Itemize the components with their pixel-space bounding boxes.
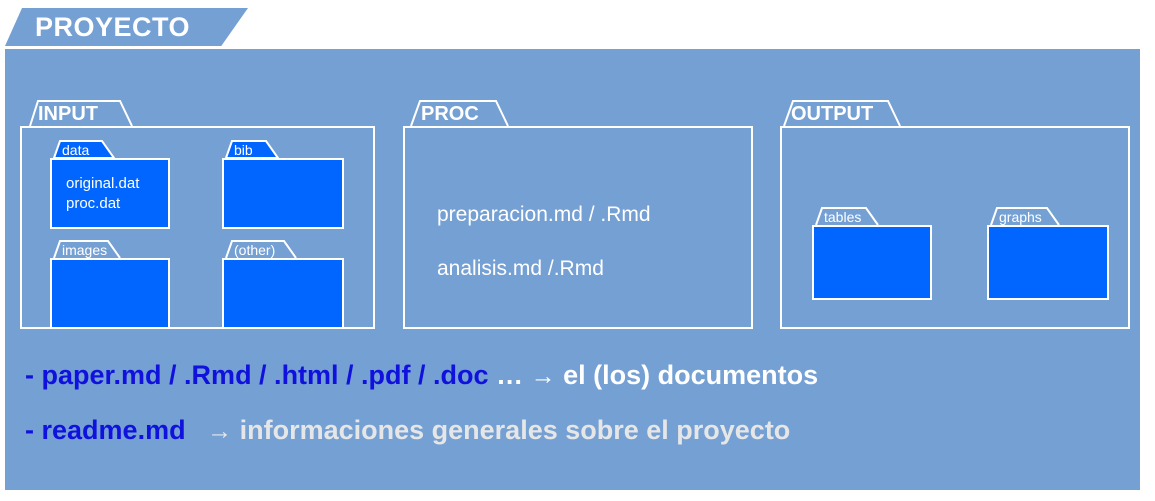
group-proc-tab: PROC [403,100,515,127]
folder-graphs-tab: graphs [987,207,1065,226]
group-input-label: INPUT [38,104,98,124]
legend-readme-dash: - [25,415,34,445]
legend-paper-name: paper.md / .Rmd / .html / .pdf / .doc [42,360,489,390]
legend-readme-name: readme.md [42,415,186,445]
group-output-body: tables graphs [780,126,1130,329]
group-proc: PROC preparacion.md / .Rmd analisis.md /… [403,100,753,330]
folder-tables-body [812,225,932,300]
group-output: OUTPUT tables [780,100,1130,330]
folder-images-tab: images [50,240,126,259]
folder-data-body: original.dat proc.dat [50,158,170,229]
folder-other-tab: (other) [222,240,306,259]
proc-file-line-2: analisis.md /.Rmd [437,258,604,279]
folder-graphs-body [987,225,1109,300]
folder-images-label: images [62,243,107,257]
folder-bib-tab: bib [222,140,284,159]
folder-graphs-label: graphs [999,210,1042,224]
folder-other-label: (other) [234,243,275,257]
group-output-label: OUTPUT [791,104,873,124]
legend-paper-dash: - [25,360,34,390]
folder-images-body [50,258,170,329]
legend-line-readme: - readme.md → informaciones generales so… [25,417,790,444]
folder-tables-tab: tables [812,207,884,226]
project-tab: PROYECTO [5,8,248,46]
folder-bib-body [222,158,344,229]
folder-tables-label: tables [824,210,861,224]
diagram-canvas: PROYECTO INPUT data [0,0,1155,501]
folder-data-files: original.dat proc.dat [66,174,139,214]
legend-readme-arrow-icon: → [207,417,232,445]
legend-readme-description: informaciones generales sobre el proyect… [240,415,791,445]
group-output-tab: OUTPUT [780,100,910,127]
folder-data-tab: data [50,140,120,159]
legend-paper-arrow-icon: → [531,362,556,390]
folder-data-label: data [62,143,89,157]
legend-line-paper: - paper.md / .Rmd / .html / .pdf / .doc … [25,362,818,389]
group-input-body: data original.dat proc.dat bib [20,126,375,329]
folder-other-body [222,258,344,329]
folder-bib-label: bib [234,143,253,157]
group-proc-body: preparacion.md / .Rmd analisis.md /.Rmd [403,126,753,329]
group-proc-label: PROC [421,104,479,124]
legend-paper-description: el (los) documentos [563,360,818,390]
project-tab-label: PROYECTO [35,14,190,41]
proc-file-line-1: preparacion.md / .Rmd [437,204,651,225]
group-input: INPUT data original.dat proc.dat [20,100,375,330]
project-panel: INPUT data original.dat proc.dat [5,49,1140,490]
legend-paper-ellipsis: … [496,360,523,390]
group-input-tab: INPUT [20,100,140,127]
folder-tab-shape-icon [222,140,284,159]
